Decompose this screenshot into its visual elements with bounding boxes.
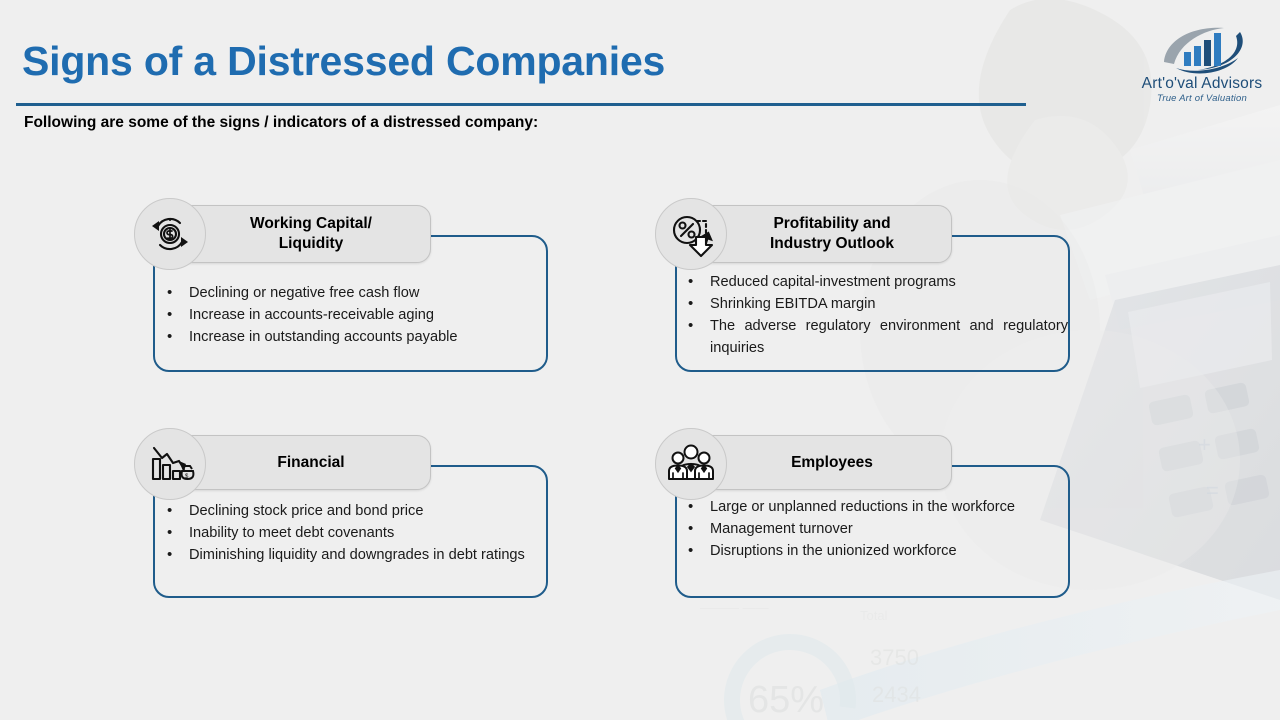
list-item: Declining stock price and bond price	[155, 501, 545, 523]
card-title: Profitability andIndustry Outlook	[724, 214, 904, 254]
watermark-figure-1: 3750	[870, 645, 919, 670]
list-item: The adverse regulatory environment and r…	[676, 316, 1068, 360]
svg-text:——— ——: ——— ——	[700, 600, 769, 615]
card-icon-wrapper	[655, 198, 727, 270]
watermark-donut-label: 65%	[748, 679, 824, 720]
watermark-figure-2: 2434	[872, 682, 921, 707]
list-item: Shrinking EBITDA margin	[676, 294, 1068, 316]
company-logo: Art'o'val Advisors True Art of Valuation	[1138, 24, 1266, 104]
card-bullet-list: Reduced capital-investment programs Shri…	[676, 272, 1068, 360]
card-icon-wrapper	[655, 428, 727, 500]
title-divider	[16, 103, 1026, 106]
list-item: Diminishing liquidity and downgrades in …	[155, 545, 545, 567]
page-subtitle: Following are some of the signs / indica…	[24, 114, 538, 132]
card-title: Employees	[745, 453, 883, 473]
list-item: Management turnover	[676, 519, 1068, 541]
logo-company-name: Art'o'val Advisors	[1138, 76, 1266, 92]
people-group-icon	[666, 439, 716, 489]
card-icon-wrapper: $	[134, 428, 206, 500]
percent-decline-icon	[666, 209, 716, 259]
bar-chart-swoosh-logo-icon	[1146, 24, 1258, 76]
page-title: Signs of a Distressed Companies	[22, 38, 665, 85]
svg-text:+: +	[1198, 432, 1211, 457]
card-bullet-list: Large or unplanned reductions in the wor…	[676, 497, 1068, 563]
list-item: Increase in outstanding accounts payable	[155, 327, 545, 349]
svg-text:Total: Total	[860, 608, 888, 623]
list-item: Large or unplanned reductions in the wor…	[676, 497, 1068, 519]
svg-text:=: =	[1206, 478, 1219, 503]
card-icon-wrapper	[134, 198, 206, 270]
card-title: Financial	[231, 453, 354, 473]
card-bullet-list: Declining or negative free cash flow Inc…	[155, 283, 545, 349]
declining-bar-chart-money-bag-icon: $	[145, 439, 195, 489]
list-item: Increase in accounts-receivable aging	[155, 305, 545, 327]
list-item: Disruptions in the unionized workforce	[676, 541, 1068, 563]
list-item: Declining or negative free cash flow	[155, 283, 545, 305]
card-bullet-list: Declining stock price and bond price Ina…	[155, 501, 545, 567]
logo-tagline: True Art of Valuation	[1138, 93, 1266, 104]
cash-flow-cycle-icon	[145, 209, 195, 259]
list-item: Reduced capital-investment programs	[676, 272, 1068, 294]
card-title: Working Capital/Liquidity	[204, 214, 382, 254]
list-item: Inability to meet debt covenants	[155, 523, 545, 545]
